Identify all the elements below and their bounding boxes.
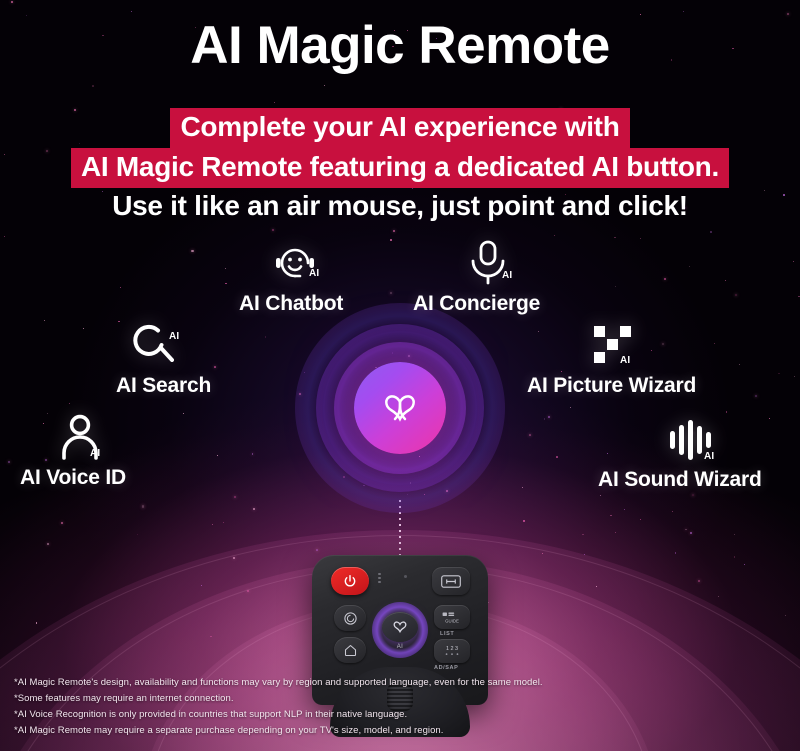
chatbot-headset-icon xyxy=(270,238,320,288)
home-button[interactable] xyxy=(334,637,366,663)
feature-ai-tag: AI xyxy=(309,268,319,279)
power-icon xyxy=(343,574,357,588)
input-button[interactable] xyxy=(432,567,470,595)
guide-label: GUIDE xyxy=(445,618,459,623)
feature-ai-tag: AI xyxy=(90,448,100,459)
orb-core[interactable] xyxy=(354,362,446,454)
ir-sensor xyxy=(404,575,407,578)
feature-ai-chatbot[interactable]: AI AI Chatbot xyxy=(270,238,343,316)
feature-ai-sound-wizard[interactable]: AI AI Sound Wizard xyxy=(668,418,762,492)
power-button[interactable] xyxy=(331,567,369,595)
list-label: LIST xyxy=(440,631,454,637)
feature-label-ai-sound-wizard: AI Sound Wizard xyxy=(598,468,762,492)
subheadline-block: Complete your AI experience with AI Magi… xyxy=(0,108,800,220)
feature-label-ai-picture-wizard: AI Picture Wizard xyxy=(527,374,696,398)
feature-ai-concierge[interactable]: AI AI Concierge xyxy=(465,238,540,316)
subheadline-line-2: AI Magic Remote featuring a dedicated AI… xyxy=(71,148,729,188)
ai-knot-icon xyxy=(389,616,411,638)
settings-button[interactable] xyxy=(334,605,366,631)
feature-label-ai-concierge: AI Concierge xyxy=(413,292,540,316)
feature-ai-tag: AI xyxy=(169,331,179,342)
ai-button[interactable] xyxy=(382,612,418,642)
mic-grille xyxy=(378,573,381,585)
subheadline-line-3: Use it like an air mouse, just point and… xyxy=(112,188,688,220)
settings-icon xyxy=(343,611,358,626)
promo-stage: AI Magic Remote Complete your AI experie… xyxy=(0,0,800,751)
footnote-3: *AI Voice Recognition is only provided i… xyxy=(14,707,543,723)
numbers-button[interactable]: 1 2 3 xyxy=(434,639,470,663)
guide-button[interactable]: GUIDE xyxy=(434,605,470,629)
feature-ai-tag: AI xyxy=(620,355,630,366)
input-switch-icon xyxy=(441,575,461,588)
ai-knot-logo-icon xyxy=(374,382,426,434)
feature-ai-tag: AI xyxy=(502,270,512,281)
feature-ai-picture-wizard[interactable]: AI AI Picture Wizard xyxy=(590,322,696,398)
guide-icon: GUIDE xyxy=(441,611,463,624)
magnifier-icon xyxy=(128,318,180,370)
feature-label-ai-search: AI Search xyxy=(116,374,211,398)
footnotes: *AI Magic Remote's design, availability … xyxy=(14,675,543,739)
ai-orb[interactable] xyxy=(290,298,510,518)
page-title: AI Magic Remote xyxy=(0,18,800,74)
adsap-label: AD/SAP xyxy=(434,665,458,671)
feature-ai-voice-id[interactable]: AI AI Voice ID xyxy=(58,412,126,490)
footnote-2: *Some features may require an internet c… xyxy=(14,691,543,707)
feature-label-ai-chatbot: AI Chatbot xyxy=(239,292,343,316)
feature-ai-tag: AI xyxy=(704,451,714,462)
subheadline-line-1: Complete your AI experience with xyxy=(170,108,629,148)
ai-button-label: AI xyxy=(312,644,488,650)
footnote-1: *AI Magic Remote's design, availability … xyxy=(14,675,543,691)
footnote-4: *AI Magic Remote may require a separate … xyxy=(14,723,543,739)
feature-ai-search[interactable]: AI AI Search xyxy=(128,318,211,398)
feature-label-ai-voice-id: AI Voice ID xyxy=(20,466,126,490)
